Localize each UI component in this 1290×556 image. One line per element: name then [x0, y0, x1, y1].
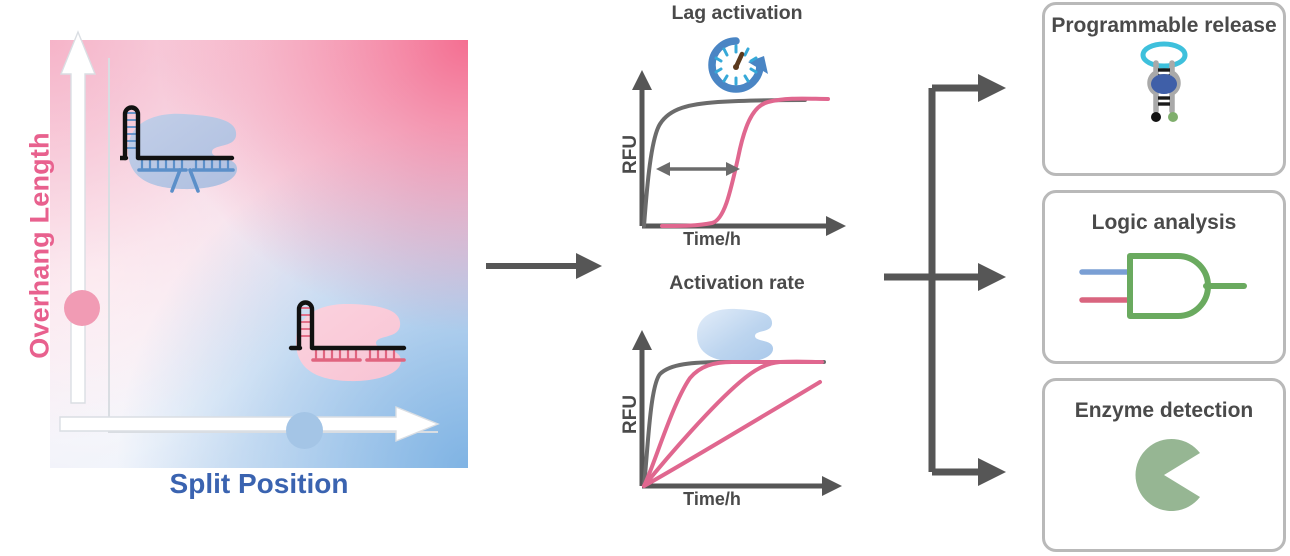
and-gate-icon	[1078, 246, 1250, 324]
plot-activation-rate: RFU Time/h	[620, 326, 850, 506]
svg-text:RFU: RFU	[620, 395, 641, 434]
axis-guide-vertical	[108, 58, 110, 433]
application-card-logic-analysis[interactable]: Logic analysis	[1042, 190, 1286, 364]
card-art-programmable-release	[1045, 40, 1283, 128]
svg-text:Time/h: Time/h	[683, 489, 741, 506]
svg-text:RFU: RFU	[620, 135, 641, 174]
application-card-programmable-release[interactable]: Programmable release	[1042, 2, 1286, 176]
chart-title-lag-activation: Lag activation	[612, 2, 862, 25]
overhang-length-slider-handle[interactable]	[64, 290, 100, 326]
pacman-enzyme-icon	[1126, 437, 1202, 513]
svg-text:Time/h: Time/h	[683, 229, 741, 246]
overhang-length-axis-label: Overhang Length	[25, 131, 56, 361]
flow-arrow-right-icon	[484, 248, 602, 284]
plot-lag-activation: RFU Time/h	[620, 66, 850, 246]
overhang-length-axis-arrow	[60, 30, 96, 405]
split-position-axis-label: Split Position	[50, 468, 468, 500]
design-space-gradient-map	[50, 40, 468, 468]
card-title-logic-analysis: Logic analysis	[1045, 193, 1283, 235]
split-position-slider-handle[interactable]	[286, 412, 323, 449]
dna-construct-short-overhang	[282, 300, 412, 382]
chart-title-activation-rate: Activation rate	[612, 272, 862, 295]
card-title-programmable-release: Programmable release	[1045, 5, 1283, 38]
application-card-enzyme-detection[interactable]: Enzyme detection	[1042, 378, 1286, 552]
split-position-axis-arrow	[58, 405, 440, 443]
card-title-enzyme-detection: Enzyme detection	[1045, 381, 1283, 423]
card-art-logic-analysis	[1045, 241, 1283, 329]
design-space-panel: Overhang Length Split Position	[0, 0, 478, 556]
hairpin-cargo-icon	[1128, 41, 1200, 127]
dna-construct-long-overhang	[120, 105, 250, 195]
flow-branch-arrows-icon	[884, 62, 1014, 498]
card-art-enzyme-detection	[1045, 431, 1283, 519]
